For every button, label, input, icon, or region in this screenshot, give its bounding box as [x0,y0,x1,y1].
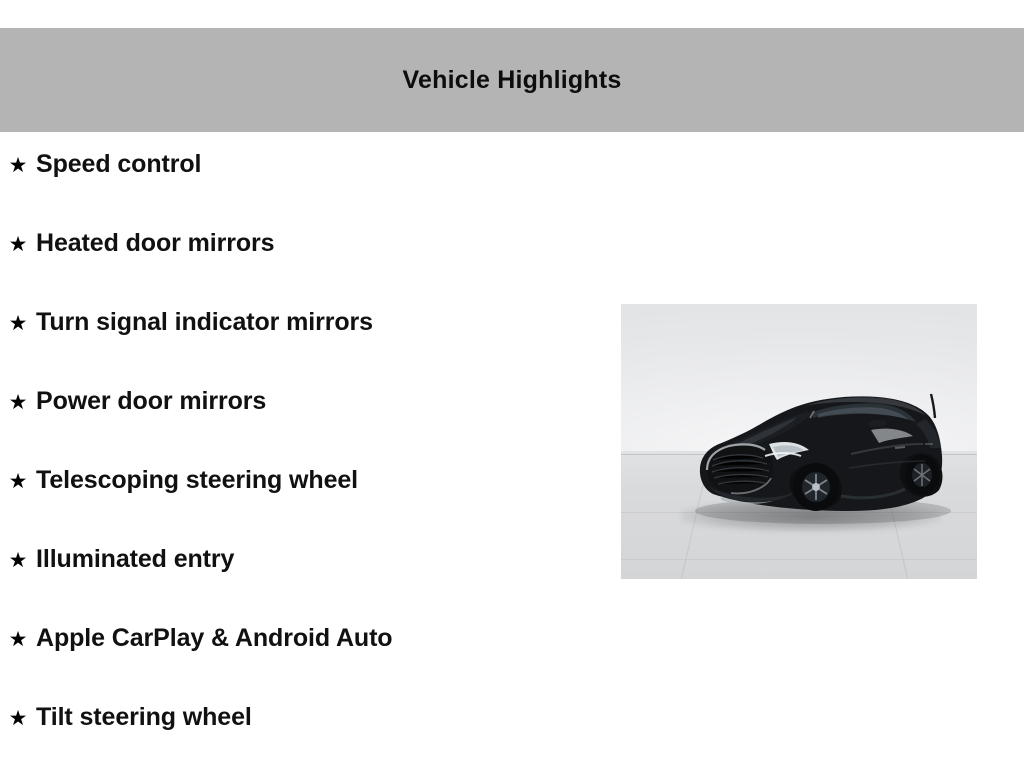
list-item: ★ Turn signal indicator mirrors [0,308,600,387]
content-area: ★ Speed control ★ Heated door mirrors ★ … [0,132,1024,768]
list-item: ★ Power door mirrors [0,387,600,466]
star-bullet-icon: ★ [0,308,36,337]
feature-label: Illuminated entry [36,545,234,573]
page-title: Vehicle Highlights [403,66,622,95]
star-bullet-icon: ★ [0,229,36,258]
list-item: ★ Heated door mirrors [0,229,600,308]
star-bullet-icon: ★ [0,624,36,653]
feature-label: Power door mirrors [36,387,266,415]
feature-label: Apple CarPlay & Android Auto [36,624,392,652]
feature-label: Turn signal indicator mirrors [36,308,373,336]
suv-illustration [673,344,963,534]
feature-label: Telescoping steering wheel [36,466,358,494]
vehicle-highlights-page: Vehicle Highlights ★ Speed control ★ Hea… [0,0,1024,768]
star-bullet-icon: ★ [0,545,36,574]
bottom-margin [0,762,1024,768]
feature-list: ★ Speed control ★ Heated door mirrors ★ … [0,150,600,782]
star-bullet-icon: ★ [0,387,36,416]
star-bullet-icon: ★ [0,703,36,732]
header-bar: Vehicle Highlights [0,28,1024,132]
list-item: ★ Apple CarPlay & Android Auto [0,624,600,703]
list-item: ★ Telescoping steering wheel [0,466,600,545]
vehicle-photo [621,304,977,579]
list-item: ★ Speed control [0,150,600,229]
list-item: ★ Tilt steering wheel [0,703,600,782]
list-item: ★ Illuminated entry [0,545,600,624]
floor-seam-front [621,559,977,560]
top-margin [0,0,1024,28]
feature-label: Tilt steering wheel [36,703,252,731]
feature-label: Heated door mirrors [36,229,274,257]
feature-label: Speed control [36,150,201,178]
star-bullet-icon: ★ [0,150,36,179]
star-bullet-icon: ★ [0,466,36,495]
